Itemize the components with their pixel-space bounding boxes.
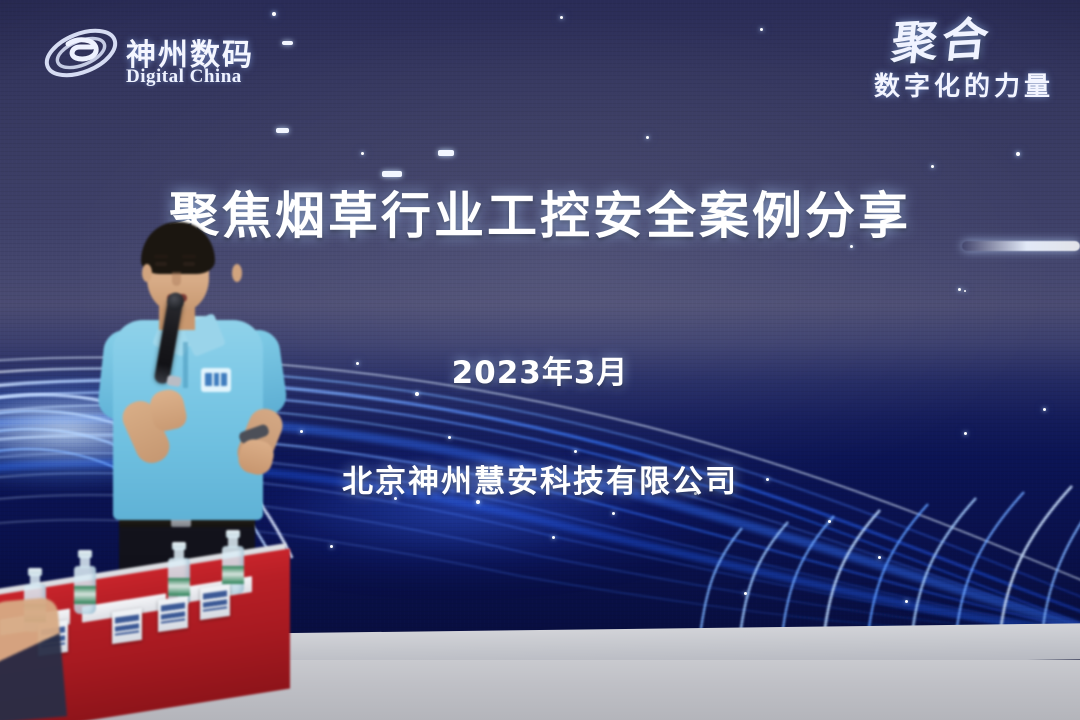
foreground-attendee [0, 597, 67, 720]
speaker-shirt-placket [183, 342, 188, 388]
speaker-eye-right [183, 262, 195, 266]
speaker-eyebrow-left [154, 255, 168, 258]
logo-english-name: Digital China [126, 66, 242, 88]
speaker-ear-right [232, 264, 242, 282]
event-logo-calligraphy: 聚合 [889, 15, 995, 66]
swirl-galaxy-logo-icon [42, 20, 120, 86]
water-bottle [74, 550, 96, 614]
speaker-ear-left [142, 264, 152, 282]
conference-photo-scene: 神州数码 Digital China 聚合 数字化的力量 聚焦烟草行业工控安全案… [0, 0, 1080, 720]
name-card [158, 596, 188, 632]
digital-china-logo: 神州数码 Digital China [42, 18, 282, 94]
speaker-hair [141, 222, 215, 274]
event-logo-tagline: 数字化的力量 [794, 66, 1054, 103]
name-card [112, 608, 142, 644]
speaker-nose [172, 272, 181, 286]
speaker-eyebrow-right [182, 255, 196, 258]
speaker-chest-logo-icon [201, 368, 231, 392]
speaker-eye-left [155, 262, 167, 266]
name-card [200, 584, 230, 620]
event-logo: 聚合 数字化的力量 [794, 18, 1054, 114]
